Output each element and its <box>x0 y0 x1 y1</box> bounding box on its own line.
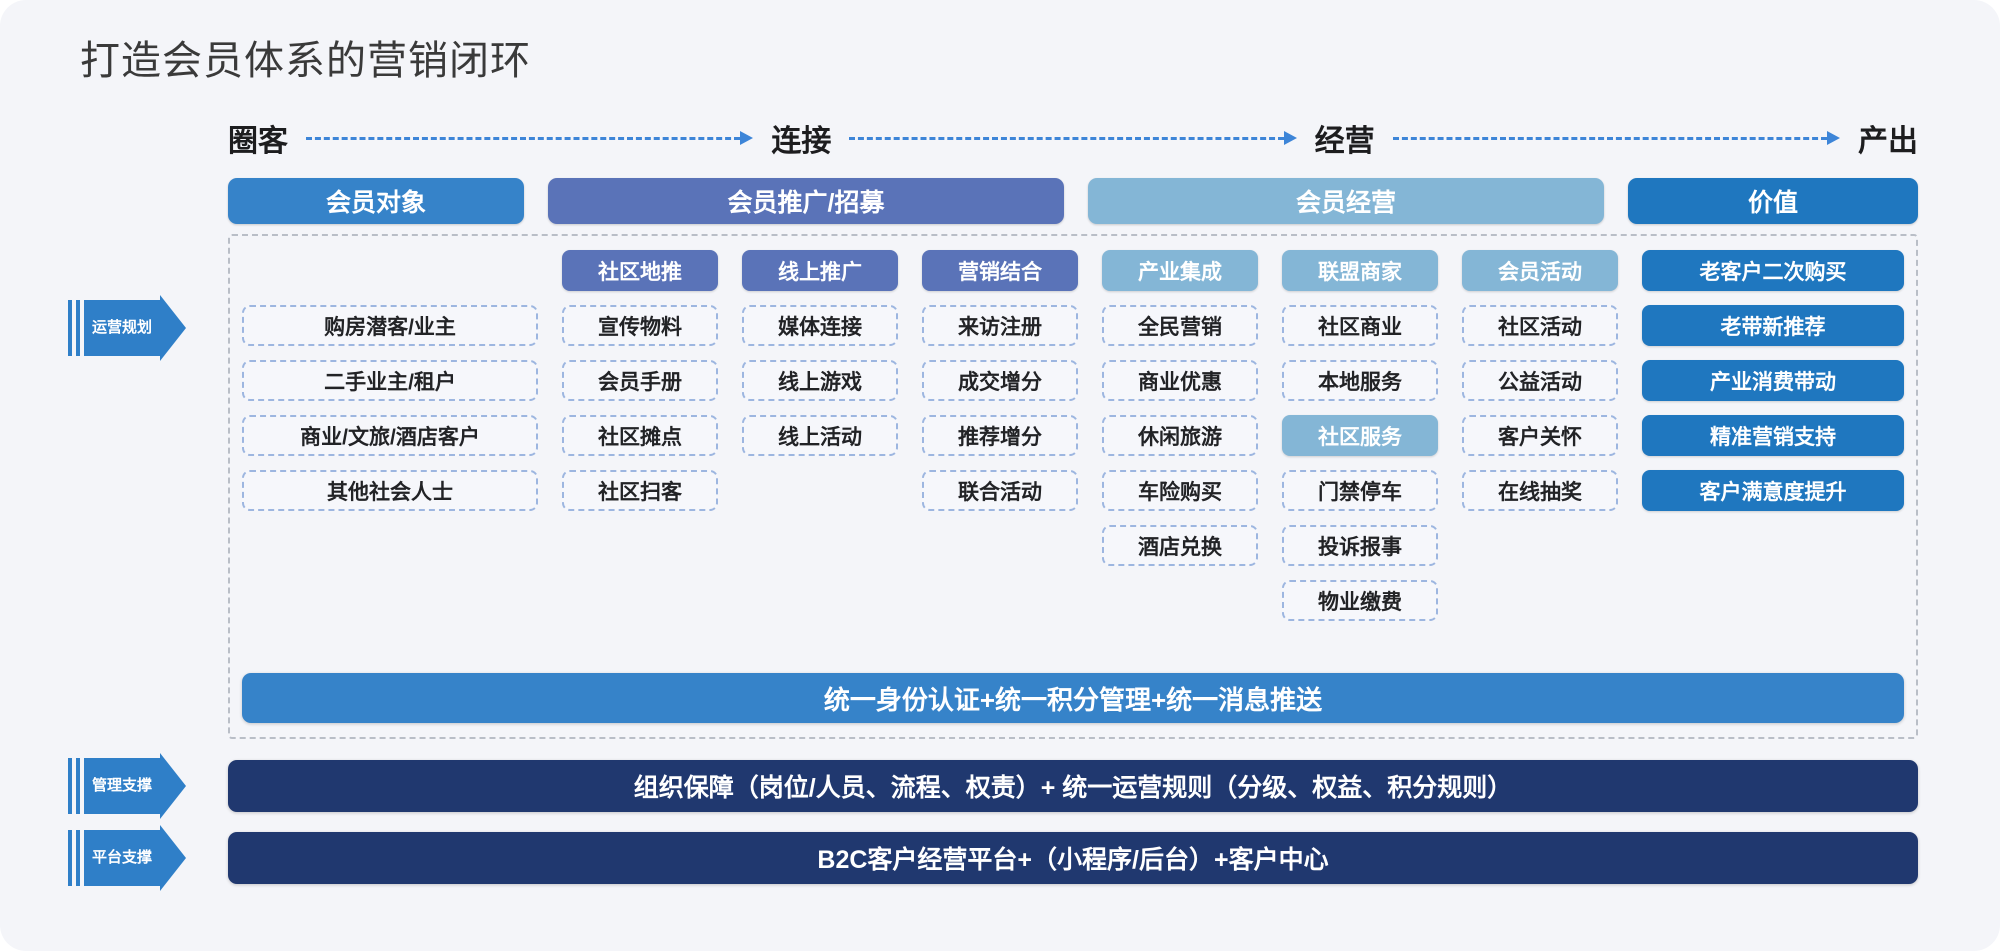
stage-label-1: 圈客 <box>228 116 288 160</box>
column-marketing-combo: 营销结合 来访注册 成交增分 推荐增分 联合活动 <box>922 250 1078 511</box>
arrow-bars-icon <box>68 758 80 814</box>
column-community-ground-promo: 社区地推 宣传物料 会员手册 社区摊点 社区扫客 <box>562 250 718 511</box>
cell-g2c3-2[interactable]: 成交增分 <box>922 360 1078 401</box>
cell-g2c1-3[interactable]: 社区摊点 <box>562 415 718 456</box>
group-member-target: 购房潜客/业主 二手业主/租户 商业/文旅/酒店客户 其他社会人士 <box>242 250 538 511</box>
cell-g3c1-4[interactable]: 车险购买 <box>1102 470 1258 511</box>
column-value: 老客户二次购买 老带新推荐 产业消费带动 精准营销支持 客户满意度提升 <box>1642 250 1904 511</box>
column-header-member-promotion[interactable]: 会员推广/招募 <box>548 178 1064 224</box>
column-headers: 会员对象 会员推广/招募 会员经营 价值 <box>228 178 1918 224</box>
cell-g3c2-5[interactable]: 投诉报事 <box>1282 525 1438 566</box>
bottom-bar-organization[interactable]: 组织保障（岗位/人员、流程、权责）+ 统一运营规则（分级、权益、积分规则） <box>228 760 1918 812</box>
matrix-container: 购房潜客/业主 二手业主/租户 商业/文旅/酒店客户 其他社会人士 社区地推 宣… <box>228 234 1918 739</box>
cell-g2c3-3[interactable]: 推荐增分 <box>922 415 1078 456</box>
cell-target-1[interactable]: 购房潜客/业主 <box>242 305 538 346</box>
cell-g3c1-1[interactable]: 全民营销 <box>1102 305 1258 346</box>
side-arrow-platform-support[interactable]: 平台支撑 <box>68 830 160 886</box>
cell-value-3[interactable]: 产业消费带动 <box>1642 360 1904 401</box>
cell-g3c3-3[interactable]: 客户关怀 <box>1462 415 1618 456</box>
group-value: 老客户二次购买 老带新推荐 产业消费带动 精准营销支持 客户满意度提升 <box>1642 250 1904 511</box>
cell-g3c1-3[interactable]: 休闲旅游 <box>1102 415 1258 456</box>
cell-g3c2-4[interactable]: 门禁停车 <box>1282 470 1438 511</box>
column-header-value[interactable]: 价值 <box>1628 178 1918 224</box>
arrow-bars-icon <box>68 830 80 886</box>
cell-g2c3-1[interactable]: 来访注册 <box>922 305 1078 346</box>
stage-label-2: 连接 <box>771 116 831 160</box>
column-header-member-target[interactable]: 会员对象 <box>228 178 524 224</box>
bottom-bar-platform[interactable]: B2C客户经营平台+（小程序/后台）+客户中心 <box>228 832 1918 884</box>
stage-arrow-3 <box>1393 137 1840 139</box>
side-arrow-label-3: 平台支撑 <box>84 830 160 886</box>
stage-label-3: 经营 <box>1315 116 1375 160</box>
group-member-promotion: 社区地推 宣传物料 会员手册 社区摊点 社区扫客 线上推广 媒体连接 线上游戏 … <box>562 250 1078 511</box>
matrix-columns: 购房潜客/业主 二手业主/租户 商业/文旅/酒店客户 其他社会人士 社区地推 宣… <box>242 250 1904 621</box>
side-arrow-management-support[interactable]: 管理支撑 <box>68 758 160 814</box>
column-alliance-merchants: 联盟商家 社区商业 本地服务 社区服务 门禁停车 投诉报事 物业缴费 <box>1282 250 1438 621</box>
diagram-canvas: 打造会员体系的营销闭环 圈客 连接 经营 产出 会员对象 会员推广/招募 会员经… <box>0 0 2000 951</box>
side-arrow-operation-planning[interactable]: 运营规划 <box>68 300 160 356</box>
arrow-bars-icon <box>68 300 80 356</box>
side-arrow-label-2: 管理支撑 <box>84 758 160 814</box>
cell-value-2[interactable]: 老带新推荐 <box>1642 305 1904 346</box>
cell-g2c2-3[interactable]: 线上活动 <box>742 415 898 456</box>
cell-g3c2-1[interactable]: 社区商业 <box>1282 305 1438 346</box>
cell-target-2[interactable]: 二手业主/租户 <box>242 360 538 401</box>
cell-g2c1-2[interactable]: 会员手册 <box>562 360 718 401</box>
cell-g3c1-5[interactable]: 酒店兑换 <box>1102 525 1258 566</box>
cell-g3c3-4[interactable]: 在线抽奖 <box>1462 470 1618 511</box>
cell-g2c1-1[interactable]: 宣传物料 <box>562 305 718 346</box>
cell-g3c3-1[interactable]: 社区活动 <box>1462 305 1618 346</box>
cell-value-1[interactable]: 老客户二次购买 <box>1642 250 1904 291</box>
subheader-online-promo[interactable]: 线上推广 <box>742 250 898 291</box>
subheader-marketing-combo[interactable]: 营销结合 <box>922 250 1078 291</box>
stage-flow: 圈客 连接 经营 产出 <box>228 116 1918 160</box>
cell-g2c1-4[interactable]: 社区扫客 <box>562 470 718 511</box>
cell-g2c2-2[interactable]: 线上游戏 <box>742 360 898 401</box>
stage-label-4: 产出 <box>1858 116 1918 160</box>
subheader-community-ground-promo[interactable]: 社区地推 <box>562 250 718 291</box>
cell-g2c2-1[interactable]: 媒体连接 <box>742 305 898 346</box>
cell-g3c2-3-highlighted[interactable]: 社区服务 <box>1282 415 1438 456</box>
cell-value-5[interactable]: 客户满意度提升 <box>1642 470 1904 511</box>
side-arrow-label-1: 运营规划 <box>84 300 160 356</box>
subheader-member-activities[interactable]: 会员活动 <box>1462 250 1618 291</box>
subheader-alliance-merchants[interactable]: 联盟商家 <box>1282 250 1438 291</box>
column-header-member-operation[interactable]: 会员经营 <box>1088 178 1604 224</box>
group-member-operation: 产业集成 全民营销 商业优惠 休闲旅游 车险购买 酒店兑换 联盟商家 社区商业 … <box>1102 250 1618 621</box>
cell-g3c1-2[interactable]: 商业优惠 <box>1102 360 1258 401</box>
column-online-promo: 线上推广 媒体连接 线上游戏 线上活动 <box>742 250 898 456</box>
stage-arrow-1 <box>306 137 753 139</box>
cell-g3c2-2[interactable]: 本地服务 <box>1282 360 1438 401</box>
cell-g2c3-4[interactable]: 联合活动 <box>922 470 1078 511</box>
column-target: 购房潜客/业主 二手业主/租户 商业/文旅/酒店客户 其他社会人士 <box>242 250 538 511</box>
column-member-activities: 会员活动 社区活动 公益活动 客户关怀 在线抽奖 <box>1462 250 1618 511</box>
subheader-industry-integration[interactable]: 产业集成 <box>1102 250 1258 291</box>
cell-g3c3-2[interactable]: 公益活动 <box>1462 360 1618 401</box>
stage-arrow-2 <box>849 137 1296 139</box>
cell-target-4[interactable]: 其他社会人士 <box>242 470 538 511</box>
cell-g3c2-6[interactable]: 物业缴费 <box>1282 580 1438 621</box>
cell-value-4[interactable]: 精准营销支持 <box>1642 415 1904 456</box>
unified-platform-bar[interactable]: 统一身份认证+统一积分管理+统一消息推送 <box>242 673 1904 723</box>
cell-target-3[interactable]: 商业/文旅/酒店客户 <box>242 415 538 456</box>
page-title: 打造会员体系的营销闭环 <box>80 28 531 86</box>
column-industry-integration: 产业集成 全民营销 商业优惠 休闲旅游 车险购买 酒店兑换 <box>1102 250 1258 566</box>
